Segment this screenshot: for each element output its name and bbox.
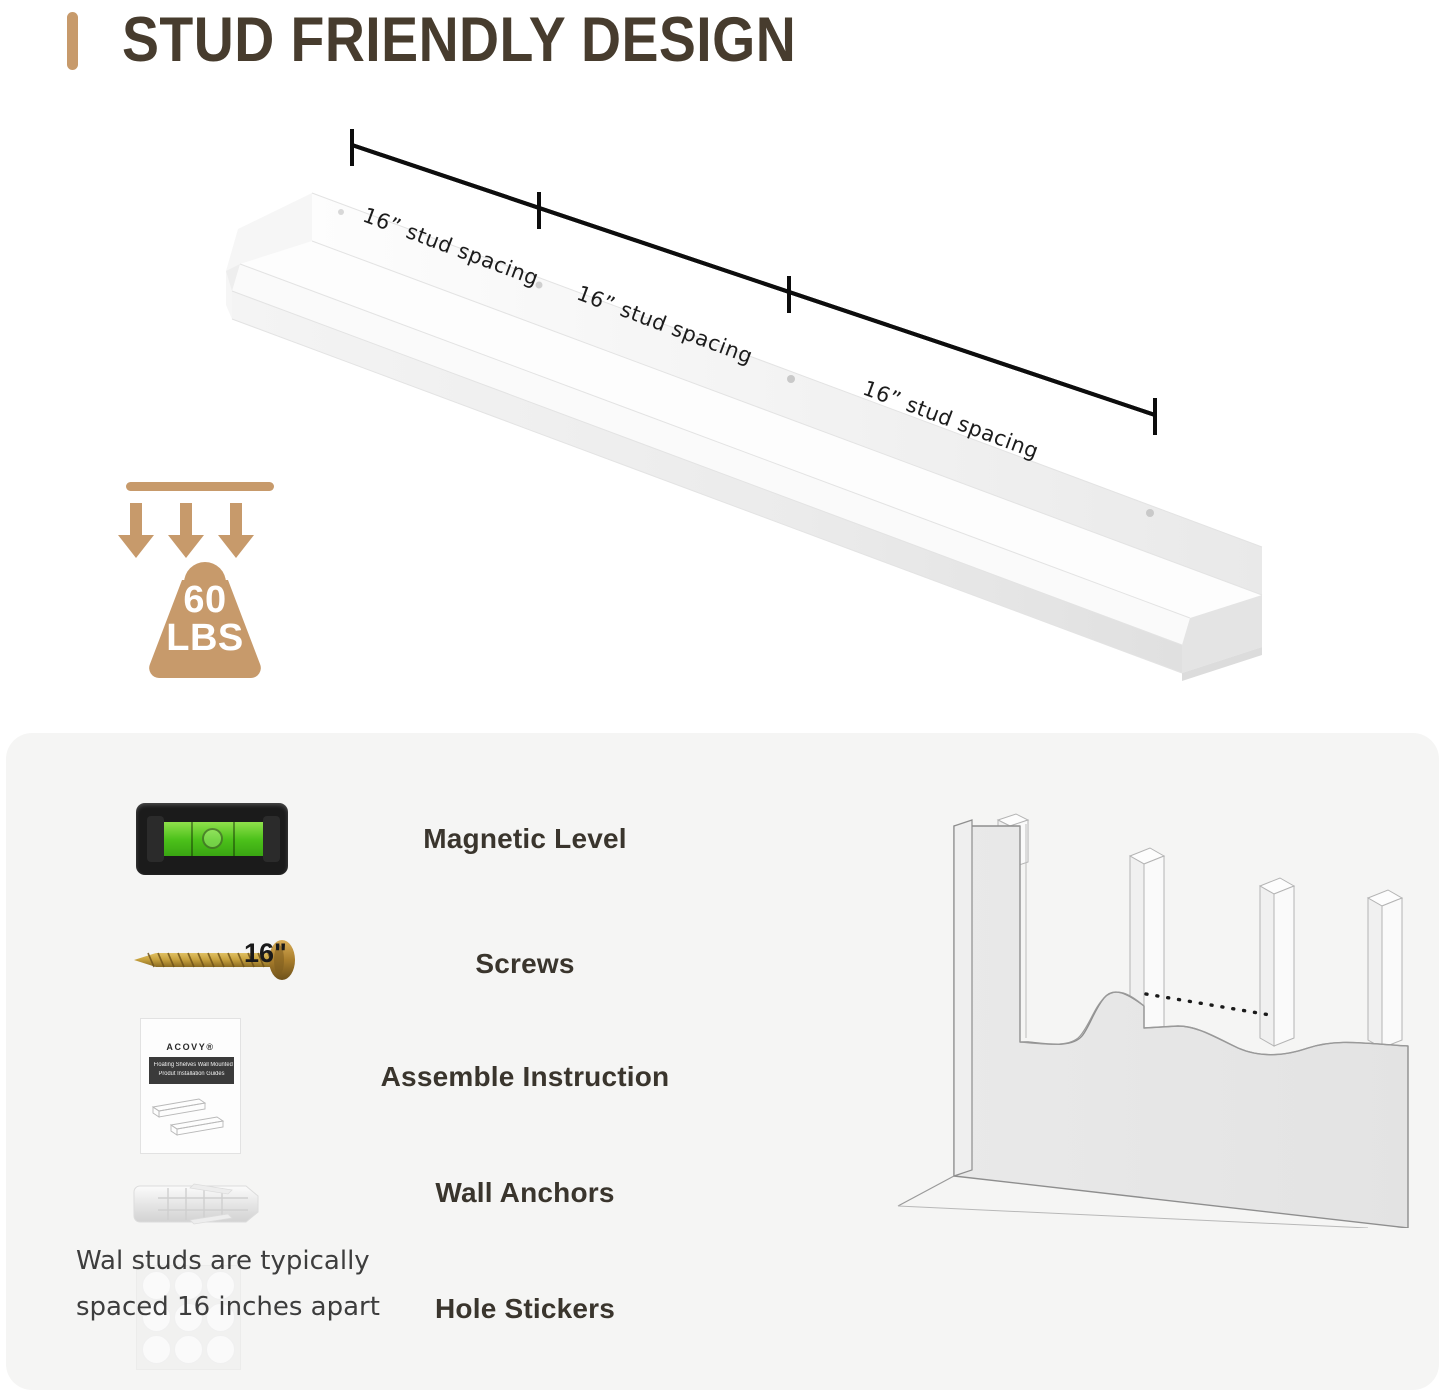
title-accent-bar <box>67 12 78 70</box>
wall-stud-diagram <box>868 798 1428 1228</box>
shelf-bar-icon <box>126 482 274 491</box>
weight-capacity-badge: 60 LBS <box>110 478 300 683</box>
booklet-band-line1: Floating Shelves Wall Mounted <box>154 1061 230 1070</box>
weight-value: 60 <box>110 579 300 622</box>
wall-caption-line2: spaced 16 inches apart <box>76 1284 380 1330</box>
wall-studs <box>998 814 1402 1048</box>
booklet-shelf-drawing <box>141 1091 242 1153</box>
accessories-panel: Magnetic Level <box>6 733 1439 1390</box>
accessory-label-instruction: Assemble Instruction <box>381 1061 670 1093</box>
stud-spacing-dimension-label: 16" <box>244 938 287 969</box>
weight-unit: LBS <box>110 617 300 660</box>
booklet-title-band: Floating Shelves Wall Mounted Produt Ins… <box>149 1057 234 1084</box>
booklet-band-line2: Produt Installation Guides <box>154 1070 230 1079</box>
wall-anchor-icon <box>128 1176 288 1237</box>
down-arrow-icons <box>118 503 254 558</box>
page-header: STUD FRIENDLY DESIGN <box>0 0 1445 95</box>
wall-caption-line1: Wal studs are typically <box>76 1238 380 1284</box>
wall-diagram-caption: Wal studs are typically spaced 16 inches… <box>76 1238 380 1330</box>
accessory-label-hole-stickers: Hole Stickers <box>435 1293 615 1325</box>
accessory-label-wall-anchors: Wall Anchors <box>435 1177 614 1209</box>
booklet-brand: ACOVY® <box>141 1042 240 1052</box>
page-title: STUD FRIENDLY DESIGN <box>122 4 796 76</box>
accessory-label-magnetic-level: Magnetic Level <box>423 823 627 855</box>
accessory-label-screws: Screws <box>475 948 574 980</box>
stud-spacing-dotted-line <box>1146 994 1276 1016</box>
